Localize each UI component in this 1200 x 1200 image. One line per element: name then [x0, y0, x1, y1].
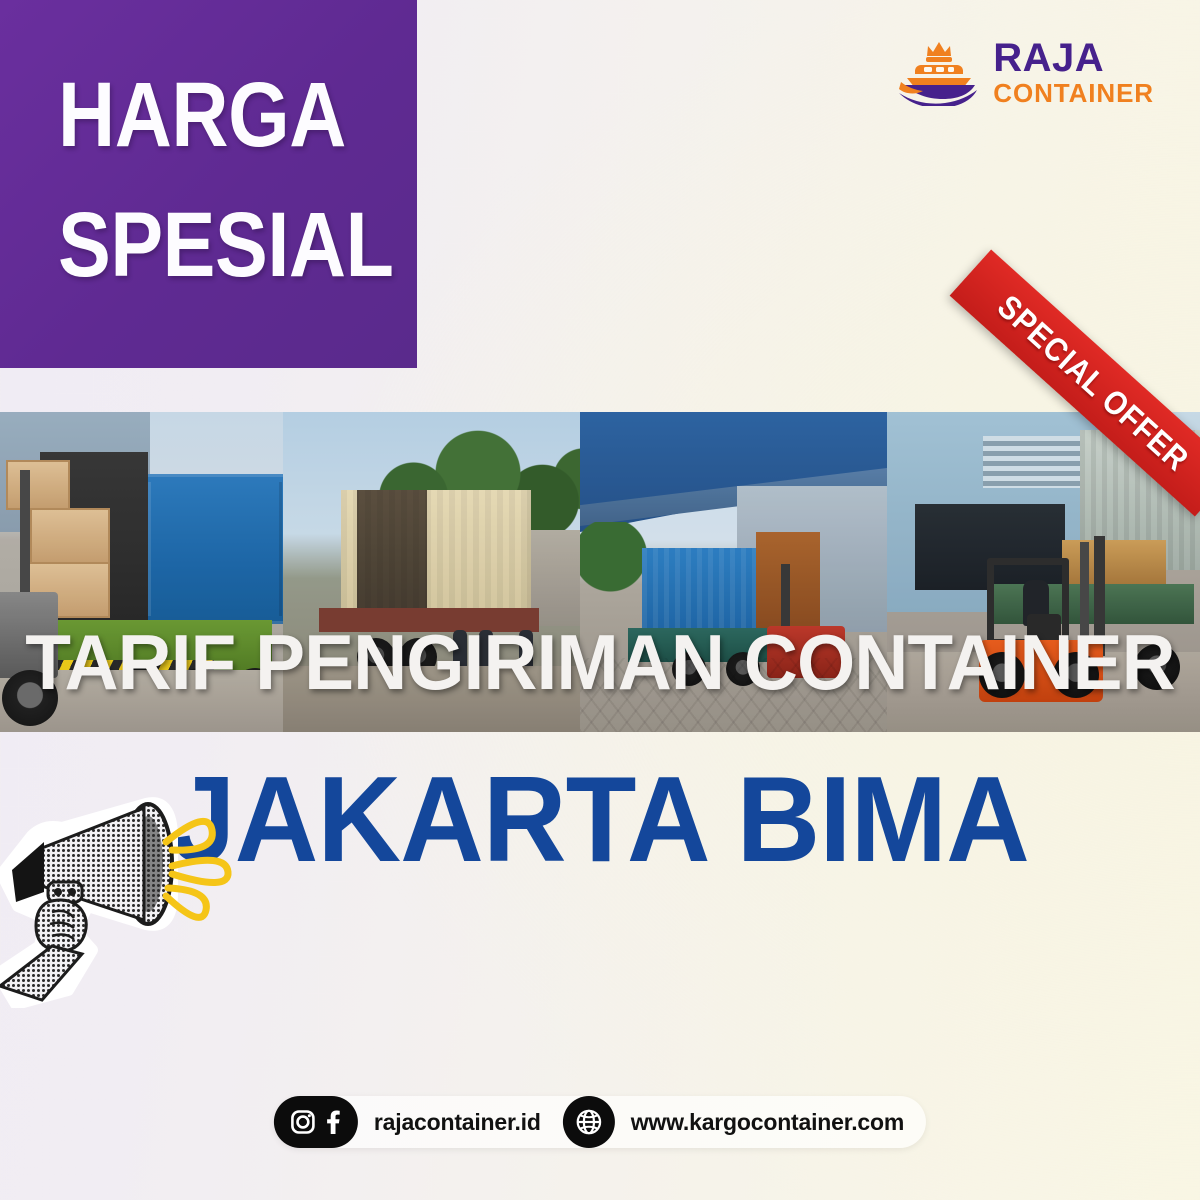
brand-name-secondary: CONTAINER — [993, 80, 1154, 106]
facebook-icon[interactable] — [324, 1109, 342, 1135]
crowned-ship-icon — [897, 38, 981, 106]
website-icon-pill[interactable] — [563, 1096, 615, 1148]
website-url[interactable]: www.kargocontainer.com — [631, 1109, 904, 1136]
promo-badge-line1: HARGA — [58, 70, 367, 160]
contact-bar: rajacontainer.id www.kargocontainer.com — [274, 1096, 926, 1148]
social-handle[interactable]: rajacontainer.id — [374, 1109, 541, 1136]
brand-name-primary: RAJA — [993, 38, 1154, 78]
globe-icon[interactable] — [574, 1107, 604, 1137]
social-icon-pill[interactable] — [274, 1096, 358, 1148]
instagram-icon[interactable] — [290, 1109, 316, 1135]
promo-badge-line2: SPESIAL — [58, 200, 367, 290]
promo-badge: HARGA SPESIAL — [0, 0, 417, 368]
brand-logo: RAJA CONTAINER — [897, 38, 1154, 106]
megaphone-hand-icon — [0, 778, 246, 1008]
promo-headline: TARIF PENGIRIMAN CONTAINER — [24, 623, 1176, 701]
